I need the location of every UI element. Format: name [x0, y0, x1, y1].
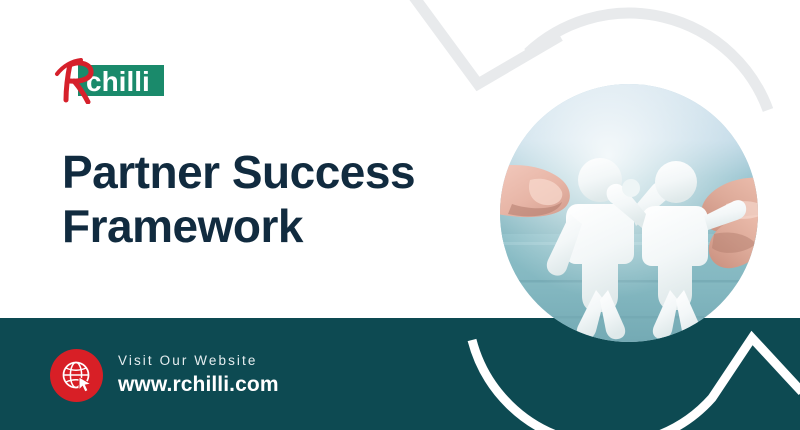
website-cta[interactable]: Visit Our Website www.rchilli.com	[50, 349, 279, 402]
logo-r-mark	[57, 60, 91, 102]
globe-cursor-icon	[60, 359, 94, 393]
page-title-line-1: Partner Success	[62, 146, 492, 200]
light-grey-chevron-icon	[406, 0, 560, 84]
website-url[interactable]: www.rchilli.com	[118, 372, 279, 398]
visit-label: Visit Our Website	[118, 353, 279, 370]
paper-people-photo	[500, 84, 758, 342]
page-title: Partner Success Framework	[62, 146, 492, 254]
hero-photo-circle	[500, 84, 758, 342]
website-text-block: Visit Our Website www.rchilli.com	[118, 353, 279, 398]
globe-badge	[50, 349, 103, 402]
logo-wordmark: chilli	[86, 66, 150, 97]
rchilli-logo[interactable]: chilli	[48, 56, 168, 104]
page-title-line-2: Framework	[62, 200, 492, 254]
banner-graphic: chilli Partner Success Framework	[0, 0, 800, 430]
